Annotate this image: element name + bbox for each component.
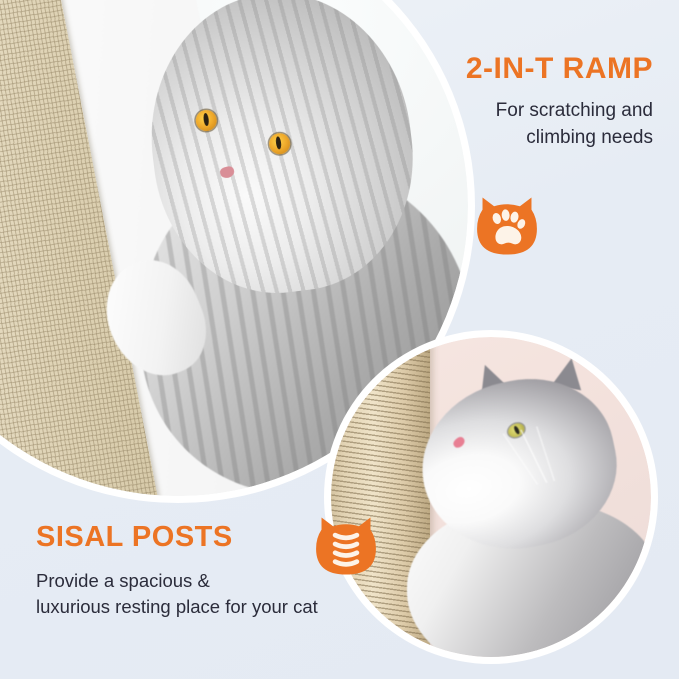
ramp-subtext: For scratching and climbing needs [353,98,653,152]
product-feature-poster: 2-IN-T RAMP For scratching and climbing … [0,0,679,679]
fluffy-cat-illustration [401,375,651,657]
sisal-headline: SISAL POSTS [36,522,396,554]
fluffy-cat-eye [506,421,527,440]
tabby-cat-eye-left [194,109,217,132]
cat-head-paw-print-icon [473,192,541,260]
sisal-subtext-line-2: luxurious resting place for your cat [36,596,318,617]
feature-block-sisal: SISAL POSTS Provide a spacious & luxurio… [36,522,396,620]
ramp-headline: 2-IN-T RAMP [353,52,653,85]
feature-block-ramp: 2-IN-T RAMP For scratching and climbing … [353,52,653,152]
sisal-subtext: Provide a spacious & luxurious resting p… [36,568,396,621]
tabby-cat-nose [219,166,235,180]
fluffy-cat-whiskers [475,417,597,496]
ramp-subtext-line-1: For scratching and [496,100,653,121]
tabby-cat-eye-right [268,133,291,156]
ramp-subtext-line-2: climbing needs [526,127,653,148]
sisal-subtext-line-1: Provide a spacious & [36,570,210,591]
fluffy-cat-nose [452,435,467,450]
